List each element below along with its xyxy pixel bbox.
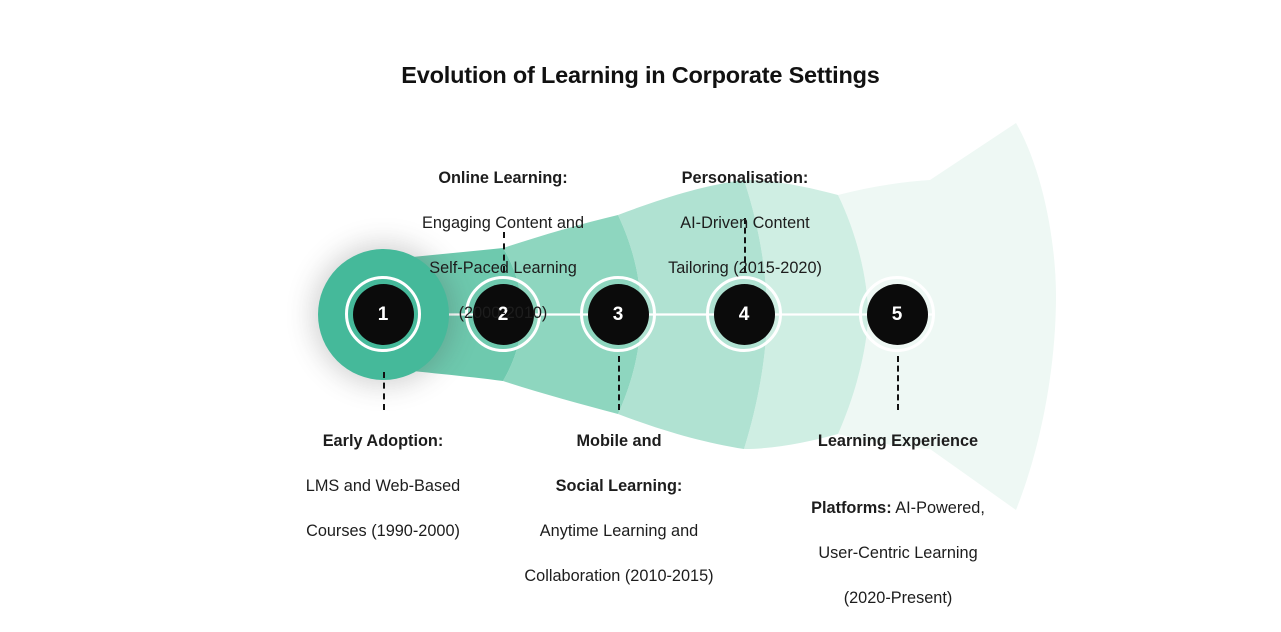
step-label-3-line3: Anytime Learning and	[488, 520, 750, 543]
step-label-3: Mobile and Social Learning: Anytime Lear…	[488, 407, 750, 610]
step-label-5-line2: Platforms: AI-Powered,	[772, 475, 1024, 520]
leader-line-step5	[897, 356, 899, 410]
step-label-2-line3: Self-Paced Learning	[383, 257, 623, 280]
step-label-3-heading-line1: Mobile and	[488, 430, 750, 453]
step-label-5-heading-line1: Learning Experience	[772, 430, 1024, 453]
step-label-1-line3: Courses (1990-2000)	[263, 520, 503, 543]
step-label-5: Learning Experience Platforms: AI-Powere…	[772, 407, 1024, 632]
step-label-5-heading-line2: Platforms:	[811, 499, 892, 517]
step-number-5: 5	[867, 284, 928, 345]
page-title: Evolution of Learning in Corporate Setti…	[0, 62, 1281, 89]
step-label-4-line3: Tailoring (2015-2020)	[625, 257, 865, 280]
step-label-3-heading-line2: Social Learning:	[488, 475, 750, 498]
step-label-1-line2: LMS and Web-Based	[263, 475, 503, 498]
step-label-4-heading: Personalisation:	[625, 167, 865, 190]
step-label-2: Online Learning: Engaging Content and Se…	[383, 144, 623, 347]
step-label-1: Early Adoption: LMS and Web-Based Course…	[263, 407, 503, 565]
step-label-5-line2-rest: AI-Powered,	[892, 499, 985, 517]
step-label-5-line4: (2020-Present)	[772, 587, 1024, 610]
step-node-5[interactable]: 5	[859, 276, 935, 352]
step-label-1-heading: Early Adoption:	[263, 430, 503, 453]
step-label-2-heading: Online Learning:	[383, 167, 623, 190]
step-label-4: Personalisation: AI-Driven Content Tailo…	[625, 144, 865, 302]
step-label-2-line4: (2000-2010)	[383, 302, 623, 325]
leader-line-step3	[618, 356, 620, 410]
step-label-2-line2: Engaging Content and	[383, 212, 623, 235]
step-label-4-line2: AI-Driven Content	[625, 212, 865, 235]
leader-line-step1	[383, 372, 385, 410]
step-label-5-line3: User-Centric Learning	[772, 542, 1024, 565]
infographic-canvas: Evolution of Learning in Corporate Setti…	[0, 0, 1281, 578]
step-label-3-line4: Collaboration (2010-2015)	[488, 565, 750, 588]
